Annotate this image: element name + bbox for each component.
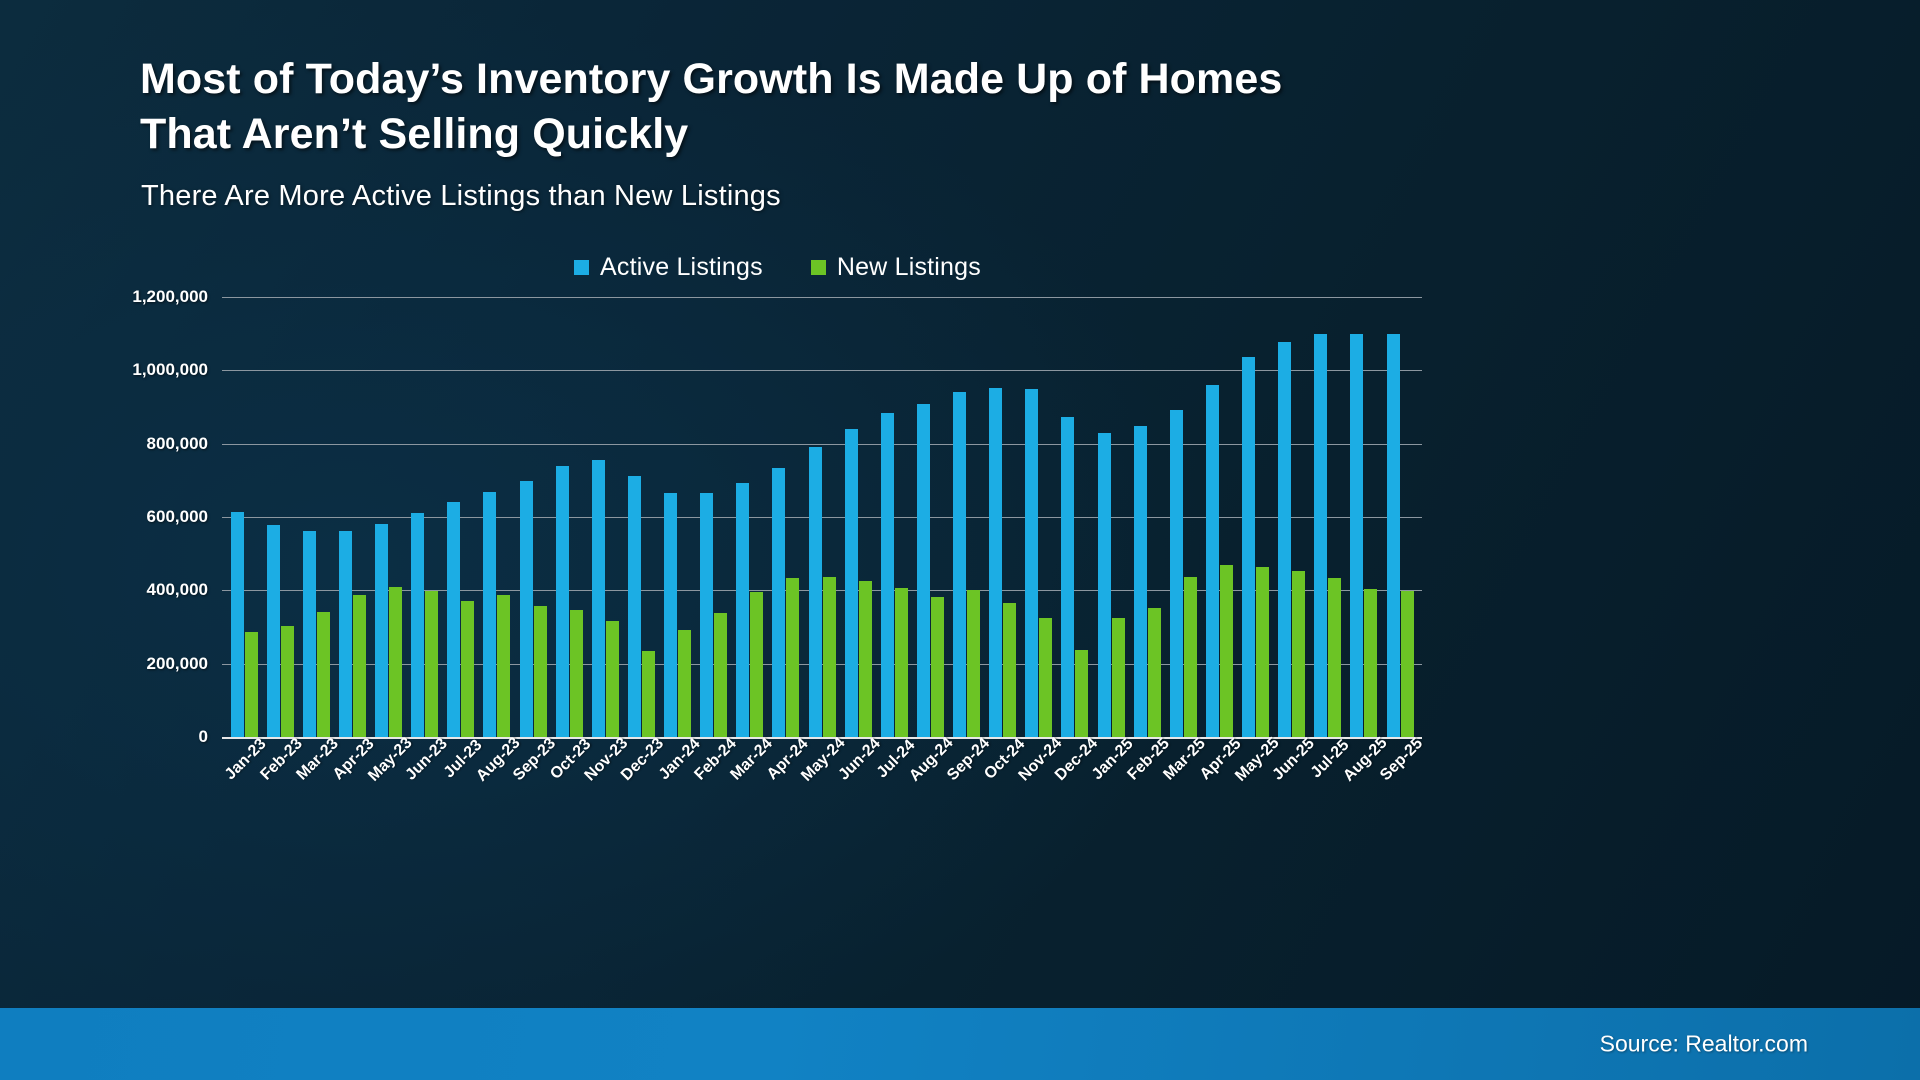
y-axis-tick-label: 600,000	[147, 507, 208, 527]
bar-new-listings[interactable]	[606, 621, 619, 737]
bar-group: Nov-23	[587, 297, 623, 737]
bar-active-listings[interactable]	[989, 388, 1002, 737]
bar-new-listings[interactable]	[1112, 618, 1125, 737]
bar-group: Jul-25	[1310, 297, 1346, 737]
y-axis-tick-label: 800,000	[147, 434, 208, 454]
chart-legend: Active Listings New Listings	[0, 253, 1555, 282]
bar-active-listings[interactable]	[303, 531, 316, 737]
bar-new-listings[interactable]	[1292, 571, 1305, 737]
bar-active-listings[interactable]	[917, 404, 930, 737]
bar-active-listings[interactable]	[953, 392, 966, 737]
bar-active-listings[interactable]	[267, 525, 280, 737]
bar-group: Aug-24	[912, 297, 948, 737]
bar-new-listings[interactable]	[1401, 591, 1414, 737]
y-axis-tick-label: 0	[199, 727, 208, 747]
bar-active-listings[interactable]	[1098, 433, 1111, 737]
bar-group: Apr-24	[768, 297, 804, 737]
bar-active-listings[interactable]	[483, 492, 496, 737]
bar-group: Jan-25	[1093, 297, 1129, 737]
legend-item-new-listings[interactable]: New Listings	[811, 253, 981, 282]
bar-group: Oct-24	[985, 297, 1021, 737]
bar-active-listings[interactable]	[809, 447, 822, 737]
bar-new-listings[interactable]	[823, 577, 836, 737]
bar-new-listings[interactable]	[281, 626, 294, 737]
bar-active-listings[interactable]	[628, 476, 641, 737]
bar-group: Feb-23	[262, 297, 298, 737]
bar-active-listings[interactable]	[1170, 410, 1183, 737]
bar-new-listings[interactable]	[678, 630, 691, 737]
slide-root: Most of Today’s Inventory Growth Is Made…	[0, 0, 1920, 1080]
chart-plot-area: 1,200,0001,000,000800,000600,000400,0002…	[222, 297, 1422, 737]
bar-group: Sep-24	[949, 297, 985, 737]
bar-group: Jun-23	[407, 297, 443, 737]
bar-new-listings[interactable]	[1075, 650, 1088, 737]
bar-active-listings[interactable]	[1206, 385, 1219, 737]
bar-group: May-25	[1238, 297, 1274, 737]
bar-new-listings[interactable]	[317, 612, 330, 737]
bar-group: Feb-24	[696, 297, 732, 737]
bar-group: Jul-23	[443, 297, 479, 737]
bar-active-listings[interactable]	[231, 512, 244, 737]
bar-new-listings[interactable]	[425, 591, 438, 737]
y-axis-tick-label: 400,000	[147, 580, 208, 600]
bar-group: Jun-24	[840, 297, 876, 737]
legend-swatch-icon-new	[811, 260, 826, 275]
bar-active-listings[interactable]	[1314, 334, 1327, 737]
bar-new-listings[interactable]	[786, 578, 799, 737]
legend-label-active: Active Listings	[600, 253, 763, 282]
bar-active-listings[interactable]	[664, 493, 677, 737]
bar-active-listings[interactable]	[556, 466, 569, 737]
source-label: Source: Realtor.com	[1600, 1031, 1808, 1058]
bar-group: May-23	[371, 297, 407, 737]
bar-new-listings[interactable]	[1003, 603, 1016, 737]
bar-new-listings[interactable]	[497, 595, 510, 737]
bar-group: May-24	[804, 297, 840, 737]
bar-group: Aug-25	[1346, 297, 1382, 737]
bar-active-listings[interactable]	[1025, 389, 1038, 737]
bar-new-listings[interactable]	[1220, 565, 1233, 737]
bar-group: Jun-25	[1274, 297, 1310, 737]
legend-item-active-listings[interactable]: Active Listings	[574, 253, 763, 282]
chart-bars: Jan-23Feb-23Mar-23Apr-23May-23Jun-23Jul-…	[222, 297, 1422, 737]
bar-active-listings[interactable]	[339, 531, 352, 737]
bar-new-listings[interactable]	[1256, 567, 1269, 738]
bar-active-listings[interactable]	[1242, 357, 1255, 737]
legend-label-new: New Listings	[837, 253, 981, 282]
bar-group: Mar-23	[298, 297, 334, 737]
bar-new-listings[interactable]	[1184, 577, 1197, 737]
page-title: Most of Today’s Inventory Growth Is Made…	[140, 52, 1560, 162]
bar-group: Aug-23	[479, 297, 515, 737]
bar-group: Apr-23	[334, 297, 370, 737]
bar-group: Sep-25	[1382, 297, 1418, 737]
bar-new-listings[interactable]	[245, 632, 258, 737]
bar-active-listings[interactable]	[1061, 417, 1074, 737]
bar-group: Oct-23	[551, 297, 587, 737]
bar-new-listings[interactable]	[570, 610, 583, 737]
legend-swatch-icon-active	[574, 260, 589, 275]
bar-active-listings[interactable]	[1350, 334, 1363, 737]
bar-active-listings[interactable]	[1278, 342, 1291, 737]
page-subtitle: There Are More Active Listings than New …	[141, 180, 781, 213]
bar-group: Sep-23	[515, 297, 551, 737]
bar-active-listings[interactable]	[520, 481, 533, 737]
bar-new-listings[interactable]	[642, 651, 655, 737]
bar-new-listings[interactable]	[389, 587, 402, 737]
bar-group: Apr-25	[1201, 297, 1237, 737]
bar-group: Nov-24	[1021, 297, 1057, 737]
bar-group: Dec-24	[1057, 297, 1093, 737]
bar-new-listings[interactable]	[931, 597, 944, 737]
bar-new-listings[interactable]	[461, 601, 474, 737]
bar-active-listings[interactable]	[592, 460, 605, 737]
bar-group: Jan-23	[226, 297, 262, 737]
bar-group: Jan-24	[660, 297, 696, 737]
bar-group: Dec-23	[623, 297, 659, 737]
bar-active-listings[interactable]	[411, 513, 424, 737]
bar-active-listings[interactable]	[845, 429, 858, 737]
bar-group: Jul-24	[876, 297, 912, 737]
y-axis-tick-label: 1,200,000	[132, 287, 208, 307]
bar-new-listings[interactable]	[859, 581, 872, 737]
bar-group: Mar-24	[732, 297, 768, 737]
footer-band: Source: Realtor.com	[0, 1008, 1920, 1080]
bar-new-listings[interactable]	[534, 606, 547, 737]
y-axis-tick-label: 200,000	[147, 654, 208, 674]
bar-active-listings[interactable]	[375, 524, 388, 737]
bar-active-listings[interactable]	[700, 493, 713, 737]
bar-new-listings[interactable]	[895, 588, 908, 737]
bar-new-listings[interactable]	[1148, 608, 1161, 737]
bar-new-listings[interactable]	[967, 590, 980, 737]
bar-active-listings[interactable]	[772, 468, 785, 738]
bar-new-listings[interactable]	[1039, 618, 1052, 737]
bar-new-listings[interactable]	[1364, 589, 1377, 737]
y-axis-tick-label: 1,000,000	[132, 360, 208, 380]
bar-active-listings[interactable]	[1134, 426, 1147, 737]
bar-new-listings[interactable]	[750, 592, 763, 737]
bar-active-listings[interactable]	[736, 483, 749, 737]
bar-active-listings[interactable]	[1387, 334, 1400, 737]
bar-active-listings[interactable]	[881, 413, 894, 737]
bar-group: Feb-25	[1129, 297, 1165, 737]
bar-active-listings[interactable]	[447, 502, 460, 737]
bar-new-listings[interactable]	[714, 613, 727, 737]
bar-group: Mar-25	[1165, 297, 1201, 737]
bar-new-listings[interactable]	[1328, 578, 1341, 738]
bar-new-listings[interactable]	[353, 595, 366, 737]
